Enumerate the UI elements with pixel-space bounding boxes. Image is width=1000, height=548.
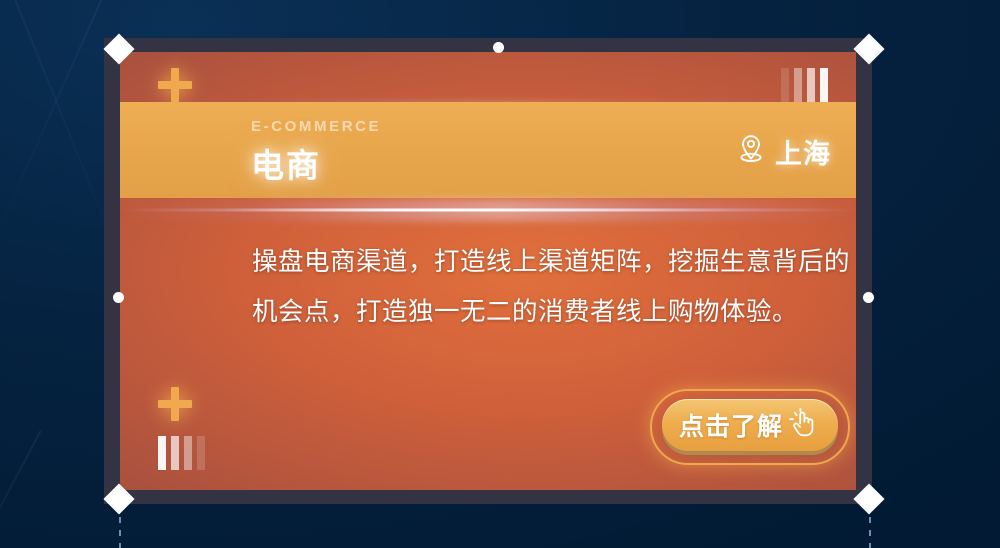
card-header-banner: E-COMMERCE 电商 上海 xyxy=(120,102,856,198)
cta-button-face[interactable]: 点击了解 xyxy=(662,399,838,451)
cta-label: 点击了解 xyxy=(679,407,783,443)
ecommerce-card[interactable]: E-COMMERCE 电商 上海 xyxy=(104,38,872,504)
plus-icon-bottom xyxy=(158,387,192,421)
edge-dot-top[interactable] xyxy=(493,42,504,53)
banner-title-block: E-COMMERCE 电商 xyxy=(251,118,381,187)
edge-dot-left[interactable] xyxy=(113,292,124,303)
background-streak xyxy=(0,0,120,235)
light-streak-bottom xyxy=(120,198,856,222)
location-city: 上海 xyxy=(775,132,831,171)
background-streak xyxy=(0,430,42,548)
edge-dot-right[interactable] xyxy=(863,292,874,303)
bar-group-bottom-left xyxy=(158,436,205,470)
card-inner-panel: E-COMMERCE 电商 上海 xyxy=(120,52,856,490)
card-description: 操盘电商渠道，打造线上渠道矩阵，挖掘生意背后的机会点，打造独一无二的消费者线上购… xyxy=(252,237,856,337)
page-background: E-COMMERCE 电商 上海 xyxy=(0,0,1000,548)
page-title: 电商 xyxy=(251,139,381,187)
map-pin-icon xyxy=(736,133,766,170)
hand-pointer-icon xyxy=(787,406,821,445)
category-eyebrow: E-COMMERCE xyxy=(251,118,381,135)
bar-group-top-right xyxy=(781,68,828,102)
location-indicator[interactable]: 上海 xyxy=(736,132,831,171)
learn-more-button[interactable]: 点击了解 xyxy=(650,389,850,465)
plus-icon-top xyxy=(158,68,192,102)
